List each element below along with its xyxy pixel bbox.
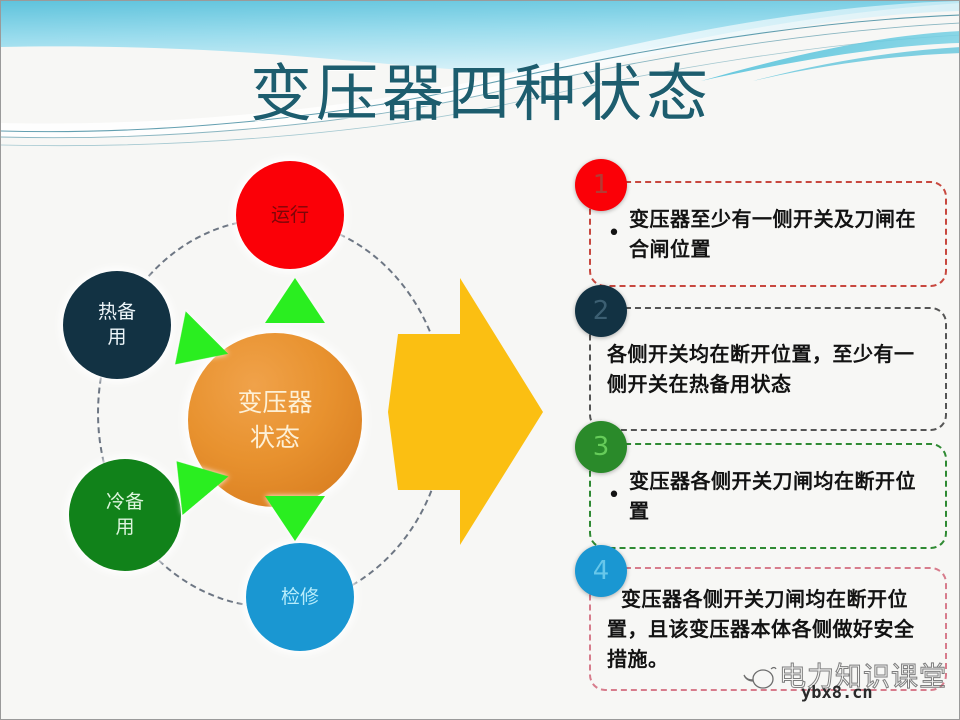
slide-canvas: 变压器四种状态 变压器 状态 运行 热备 用 冷备 用 检修	[0, 0, 960, 720]
point-badge-3[interactable]: 3	[575, 421, 627, 473]
state-cycle-diagram: 变压器 状态 运行 热备 用 冷备 用 检修	[51, 156, 521, 666]
node-hot-standby-label: 热备 用	[98, 300, 136, 350]
node-running-label: 运行	[271, 203, 309, 228]
triangle-up-icon	[265, 278, 325, 323]
point-text-3: 变压器各侧开关刀闸均在断开位置	[625, 458, 945, 534]
node-cold-standby-label: 冷备 用	[106, 490, 144, 540]
node-maintenance[interactable]: 检修	[246, 543, 354, 651]
point-text-2: 各侧开关均在断开位置，至少有一侧开关在热备用状态	[603, 331, 945, 407]
triangle-down-icon	[265, 496, 325, 541]
point-text-1: 变压器至少有一侧开关及刀闸在合闸位置	[625, 196, 945, 272]
point-box-3: • 变压器各侧开关刀闸均在断开位置	[589, 443, 947, 549]
point-badge-4[interactable]: 4	[575, 545, 627, 597]
center-node-label: 变压器 状态	[237, 385, 312, 455]
point-badge-2[interactable]: 2	[575, 285, 627, 337]
bullet-icon-1: •	[591, 223, 625, 245]
point-text-4: 变压器各侧开关刀闸均在断开位置，且该变压器本体各侧做好安全措施。	[603, 576, 945, 682]
point-box-4: 变压器各侧开关刀闸均在断开位置，且该变压器本体各侧做好安全措施。	[589, 567, 947, 691]
point-box-2: 各侧开关均在断开位置，至少有一侧开关在热备用状态	[589, 307, 947, 431]
point-box-1: • 变压器至少有一侧开关及刀闸在合闸位置	[589, 181, 947, 287]
node-running[interactable]: 运行	[236, 161, 344, 269]
node-hot-standby[interactable]: 热备 用	[63, 271, 171, 379]
big-right-arrow-icon	[388, 274, 543, 549]
bullet-icon-3: •	[591, 485, 625, 507]
point-badge-1[interactable]: 1	[575, 159, 627, 211]
page-title: 变压器四种状态	[1, 57, 960, 131]
node-maintenance-label: 检修	[281, 585, 319, 610]
points-panel: • 变压器至少有一侧开关及刀闸在合闸位置 1 各侧开关均在断开位置，至少有一侧开…	[567, 159, 947, 669]
